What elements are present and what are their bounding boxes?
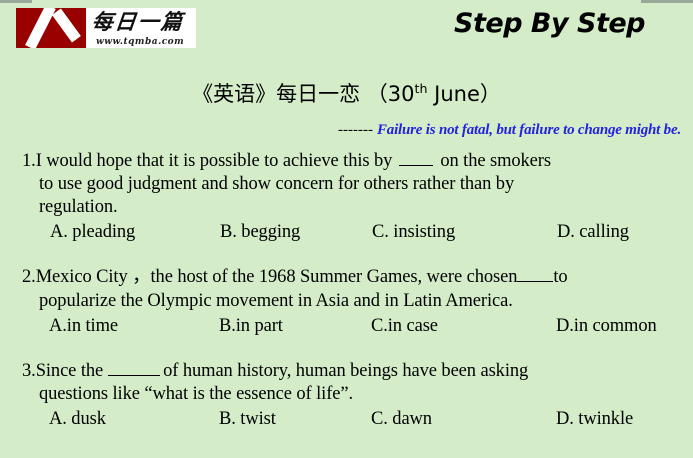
question-number: 2. <box>22 267 36 287</box>
option-b[interactable]: B. twist <box>219 407 371 431</box>
question-number: 3. <box>22 361 36 381</box>
question-text-part: on the smokers <box>440 151 551 171</box>
question-line: 1.I would hope that it is possible to ac… <box>22 150 682 173</box>
page-title: 《英语》每日一恋 （30th June） <box>0 78 693 108</box>
question-text-part: to <box>553 267 567 287</box>
answer-blank[interactable] <box>517 281 553 282</box>
logo-stroke-right <box>52 9 81 43</box>
options-row: A. pleading B. begging C. insisting D. c… <box>22 220 682 244</box>
question-text-part: I would hope that it is possible to achi… <box>36 151 393 171</box>
question-number: 1. <box>22 151 36 171</box>
question-line: 2.Mexico City ，the host of the 1968 Summ… <box>22 266 682 289</box>
logo-calligraphy: 每日一篇 <box>90 8 185 36</box>
question-item: 1.I would hope that it is possible to ac… <box>22 150 682 244</box>
option-c[interactable]: C. insisting <box>372 220 557 244</box>
question-body: 1.I would hope that it is possible to ac… <box>22 150 682 219</box>
quote-dashes: ------- <box>338 122 373 138</box>
answer-blank[interactable] <box>108 375 160 376</box>
option-a[interactable]: A. dusk <box>49 407 219 431</box>
option-b[interactable]: B. begging <box>220 220 372 244</box>
option-a[interactable]: A. pleading <box>50 220 220 244</box>
worksheet-page: 每日一篇 www.tqmba.com Step By Step 《英语》每日一恋… <box>0 0 693 458</box>
options-row: A.in time B.in part C.in case D.in commo… <box>22 314 682 338</box>
page-header: 每日一篇 www.tqmba.com Step By Step <box>0 0 693 62</box>
option-d[interactable]: D. twinkle <box>556 407 633 431</box>
option-c[interactable]: C. dawn <box>371 407 556 431</box>
option-c[interactable]: C.in case <box>371 314 556 338</box>
question-text-part: of human history, human beings have been… <box>163 361 528 381</box>
page-title-suffix: June） <box>427 82 500 106</box>
question-line: 3.Since theof human history, human being… <box>22 360 682 383</box>
question-item: 2.Mexico City ，the host of the 1968 Summ… <box>22 266 682 337</box>
option-d[interactable]: D.in common <box>556 314 657 338</box>
logo-person-icon <box>16 8 86 48</box>
option-d[interactable]: D. calling <box>557 220 629 244</box>
site-logo[interactable]: 每日一篇 www.tqmba.com <box>16 8 196 48</box>
question-text-part: Since the <box>36 361 103 381</box>
question-item: 3.Since theof human history, human being… <box>22 360 682 431</box>
question-line: questions like “what is the essence of l… <box>22 383 682 406</box>
option-b[interactable]: B.in part <box>219 314 371 338</box>
questions-list: 1.I would hope that it is possible to ac… <box>22 150 682 431</box>
page-title-ordinal: th <box>415 81 428 96</box>
question-line: regulation. <box>22 196 682 219</box>
page-title-prefix: 《英语》每日一恋 （30 <box>192 82 414 106</box>
question-body: 3.Since theof human history, human being… <box>22 360 682 406</box>
answer-blank[interactable] <box>399 165 433 166</box>
question-line: to use good judgment and show concern fo… <box>22 173 682 196</box>
quote-line: ------- Failure is not fatal, but failur… <box>0 121 693 139</box>
option-a[interactable]: A.in time <box>49 314 219 338</box>
logo-text-panel: 每日一篇 www.tqmba.com <box>86 8 196 48</box>
question-body: 2.Mexico City ，the host of the 1968 Summ… <box>22 266 682 312</box>
logo-url: www.tqmba.com <box>96 37 184 47</box>
question-line: popularize the Olympic movement in Asia … <box>22 290 682 313</box>
step-by-step-title: Step By Step <box>454 8 645 39</box>
options-row: A. dusk B. twist C. dawn D. twinkle <box>22 407 682 431</box>
quote-text: Failure is not fatal, but failure to cha… <box>377 122 681 138</box>
question-text-part: Mexico City ，the host of the 1968 Summer… <box>36 267 518 287</box>
